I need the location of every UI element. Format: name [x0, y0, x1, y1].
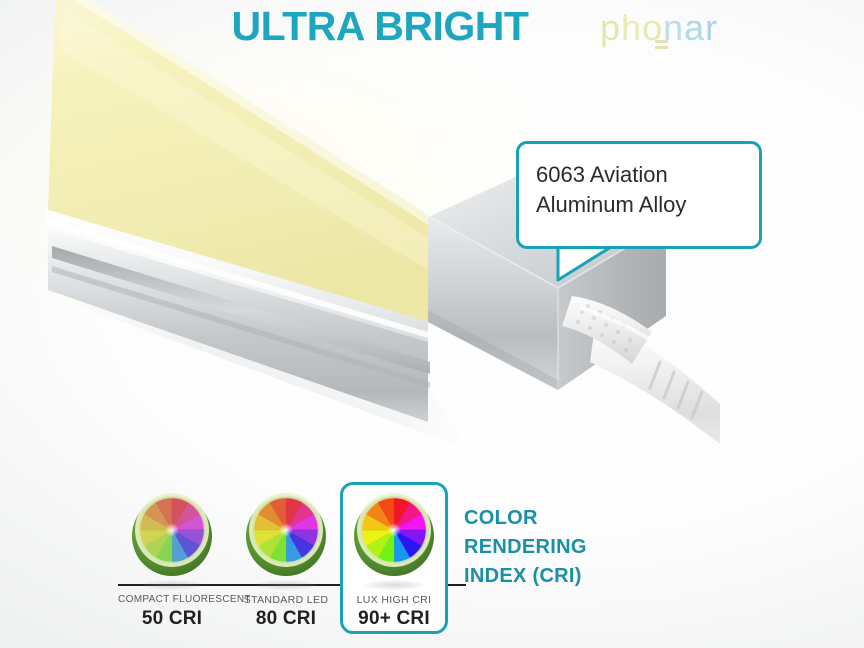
cri-comparison-section: COMPACT FLUORESCENT50 CRI STANDARD LED80… — [0, 484, 864, 648]
logo-letter-r-5: r — [705, 6, 718, 50]
cri-item-name: LUX HIGH CRI — [340, 594, 448, 606]
cri-title-line-1: COLOR — [464, 504, 654, 533]
product-marketing-image: ULTRA BRIGHT phonar 6063 Aviation Alumin… — [0, 0, 864, 648]
cri-item-name: STANDARD LED — [232, 594, 340, 606]
cri-item-2[interactable]: STANDARD LED80 CRI — [232, 484, 340, 636]
lime-shadow — [141, 580, 203, 590]
logo-letter-h-1: h — [621, 6, 642, 50]
callout-line-2: Aluminum Alloy — [536, 190, 751, 220]
callout-aluminum-alloy: 6063 Aviation Aluminum Alloy — [516, 141, 762, 249]
cri-item-value: 90+ CRI — [340, 608, 448, 630]
cri-item-value: 50 CRI — [118, 608, 226, 630]
lime-shadow — [363, 580, 425, 590]
cri-item-3[interactable]: LUX HIGH CRI90+ CRI — [340, 484, 448, 636]
logo-underline-mark — [655, 40, 668, 49]
logo-letter-p-0: p — [600, 6, 621, 50]
cri-item-1[interactable]: COMPACT FLUORESCENT50 CRI — [118, 484, 226, 636]
cri-title-line-3: INDEX (CRI) — [464, 562, 654, 591]
logo-letter-a-4: a — [684, 6, 705, 50]
callout-line-1: 6063 Aviation — [536, 160, 751, 190]
callout-text: 6063 Aviation Aluminum Alloy — [536, 160, 751, 220]
cri-title: COLORRENDERINGINDEX (CRI) — [464, 504, 654, 591]
cri-item-value: 80 CRI — [232, 608, 340, 630]
cri-item-name: COMPACT FLUORESCENT — [118, 594, 226, 605]
lime-shadow — [255, 580, 317, 590]
cri-title-line-2: RENDERING — [464, 533, 654, 562]
brand-logo-phonar: phonar — [600, 6, 780, 52]
